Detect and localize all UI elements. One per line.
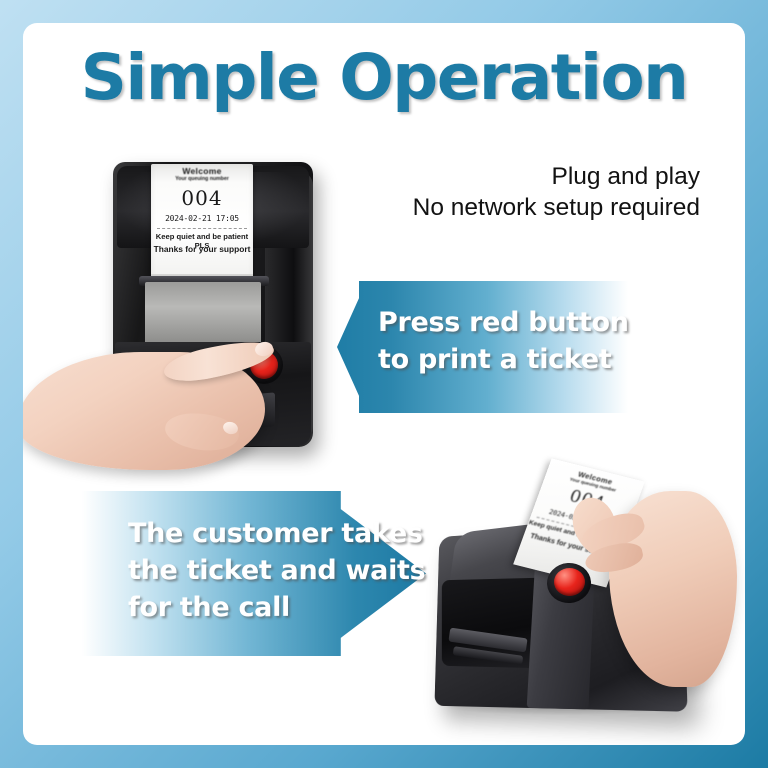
- printer-top-view-photo: Welcome Your queuing number 004 2024-02-…: [95, 156, 335, 456]
- receipt-queue-number: 004: [151, 186, 253, 210]
- tagline-line-2: No network setup required: [413, 192, 700, 223]
- printed-receipt: Welcome Your queuing number 004 2024-02-…: [151, 164, 253, 282]
- callout-arrow-press-button: [337, 281, 637, 413]
- receipt-subheader: Your queuing number: [151, 176, 253, 182]
- tagline-line-1: Plug and play: [413, 161, 700, 192]
- receipt-message-2: Thanks for your support: [151, 244, 253, 254]
- callout-arrow-take-ticket: [71, 491, 426, 656]
- receipt-header: Welcome: [151, 166, 253, 176]
- product-feature-graphic: Simple Operation Plug and play No networ…: [0, 0, 768, 768]
- receipt-divider: [157, 228, 247, 229]
- red-print-button[interactable]: [554, 568, 585, 596]
- paper-exit-slot: [145, 282, 261, 344]
- receipt-datetime: 2024-02-21 17:05: [151, 214, 253, 223]
- tagline-block: Plug and play No network setup required: [413, 161, 700, 223]
- white-content-card: Simple Operation Plug and play No networ…: [23, 23, 745, 745]
- printer-angled-view-photo: Welcome Your queuing number 004 2024-02-…: [413, 461, 733, 731]
- page-title: Simple Operation: [23, 41, 745, 114]
